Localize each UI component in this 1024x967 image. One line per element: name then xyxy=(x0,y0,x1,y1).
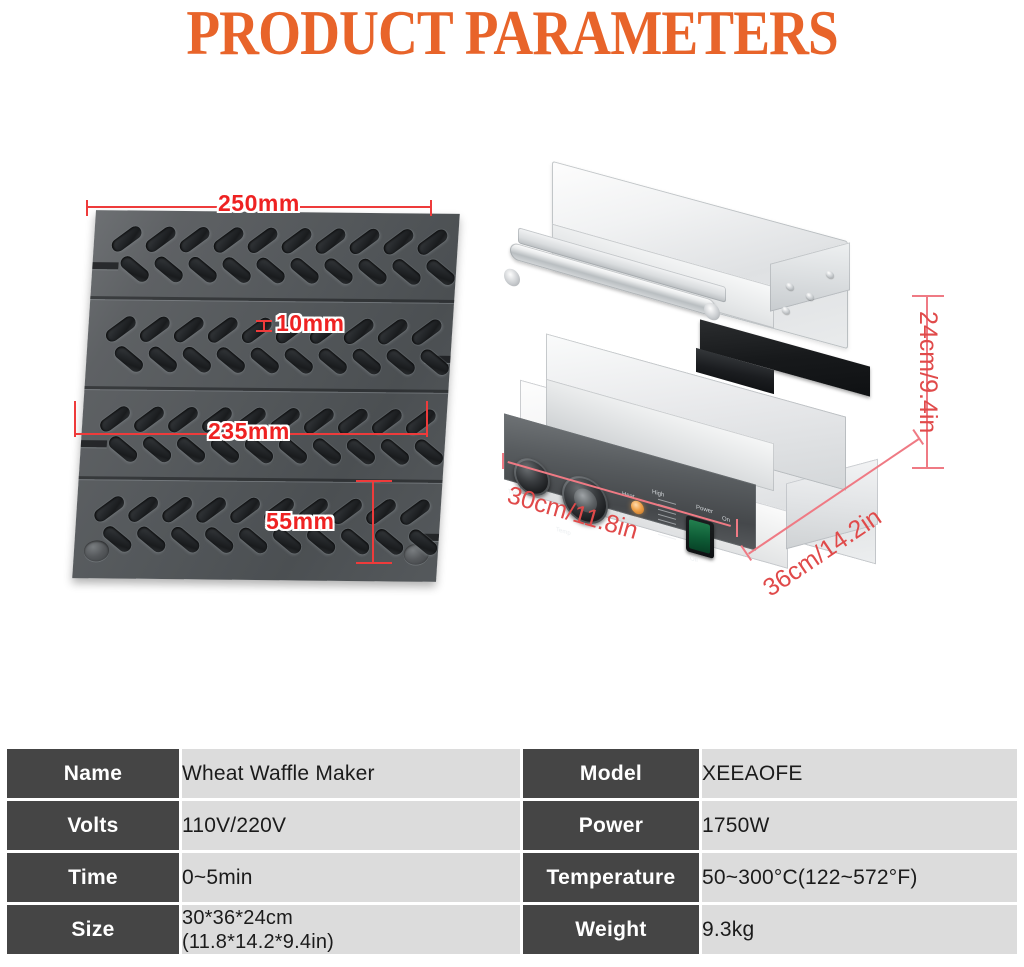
wheat-grain-cavity xyxy=(254,255,287,286)
wheat-grain-cavity xyxy=(186,254,219,285)
wheat-grain-cavity xyxy=(248,345,281,376)
dim-tick xyxy=(502,453,504,469)
spec-value: XEEAOFE xyxy=(702,749,1017,798)
dim-tick xyxy=(736,519,738,537)
page-title-bar: PRODUCT PARAMETERS xyxy=(0,0,1024,66)
wheat-grain-cavity xyxy=(288,255,321,286)
wheat-grain-cavity xyxy=(109,224,144,254)
table-row: NameWheat Waffle MakerModelXEEAOFE xyxy=(7,749,1017,798)
wheat-grain-cavity xyxy=(310,436,343,467)
wheat-grain-cavity xyxy=(347,226,382,256)
wheat-grain-cavity xyxy=(146,344,179,375)
wheat-grain-cavity xyxy=(302,406,337,436)
spec-label: Temperature xyxy=(523,853,699,902)
panel-label-off: Off xyxy=(690,556,698,564)
dim-tick xyxy=(430,200,432,216)
plate-seam xyxy=(86,296,460,303)
wheat-grain-cavity xyxy=(140,434,173,465)
wheat-grain-cavity xyxy=(282,345,315,376)
wheat-grain-cavity xyxy=(390,257,423,288)
dim-label-machine-height: 24cm/9.4in xyxy=(913,311,942,433)
power-switch[interactable] xyxy=(689,519,710,554)
wheat-grain-cavity xyxy=(98,404,133,434)
spec-label: Power xyxy=(523,801,699,850)
spec-label: Volts xyxy=(7,801,179,850)
wheat-grain-cavity xyxy=(143,224,178,254)
spec-value: 0~5min xyxy=(182,853,520,902)
wheat-grain-cavity xyxy=(409,317,444,347)
wheat-grain-cavity xyxy=(166,404,201,434)
wheat-grain-cavity xyxy=(106,434,139,465)
wheat-grain-cavity xyxy=(236,525,269,556)
table-row: Size30*36*24cm(11.8*14.2*9.4in)Weight9.3… xyxy=(7,905,1017,954)
wheat-grain-cavity xyxy=(160,494,195,524)
dim-tick xyxy=(86,200,88,216)
wheat-grain-cavity xyxy=(177,224,212,254)
wheat-grain-cavity xyxy=(220,255,253,286)
wheat-grain-cavity xyxy=(132,404,167,434)
spec-label: Size xyxy=(7,905,179,954)
wheat-grain-cavity xyxy=(92,494,127,524)
dim-tick xyxy=(356,562,392,564)
wheat-grain-cavity xyxy=(398,497,433,527)
wheat-grain-cavity xyxy=(412,437,445,468)
spec-label: Time xyxy=(7,853,179,902)
wheat-grain-cavity xyxy=(228,495,263,525)
wheat-grain-cavity xyxy=(322,256,355,287)
specification-table: NameWheat Waffle MakerModelXEEAOFEVolts1… xyxy=(4,746,1020,957)
wheat-grain-cavity xyxy=(135,524,168,555)
dim-tick xyxy=(74,401,76,437)
wheat-grain-cavity xyxy=(381,227,416,257)
wheat-grain-cavity xyxy=(375,317,410,347)
plate-notch xyxy=(92,262,118,269)
wheat-grain-cavity xyxy=(424,257,457,288)
plate-seam xyxy=(75,476,455,483)
page-title: PRODUCT PARAMETERS xyxy=(186,1,838,65)
machine-handle-cap xyxy=(504,267,520,289)
wheat-grain-cavity xyxy=(313,226,348,256)
wheat-grain-cavity xyxy=(203,525,236,556)
wheat-grain-cavity xyxy=(152,254,185,285)
waffle-maker-figure: Timer Temp Heat Low High Power On Off 30… xyxy=(490,161,960,631)
wheat-grain-cavity xyxy=(245,225,280,255)
wheat-grain-cavity xyxy=(169,524,202,555)
wheat-grain-cavity xyxy=(316,346,349,377)
spec-value: 30*36*24cm(11.8*14.2*9.4in) xyxy=(182,905,520,954)
wheat-grain-cavity xyxy=(384,347,417,378)
table-row: Time0~5minTemperature50~300°C(122~572°F) xyxy=(7,853,1017,902)
dim-line-grain-thickness xyxy=(263,320,265,331)
wheat-grain-cavity xyxy=(180,344,213,375)
wheat-grain-cavity xyxy=(211,225,246,255)
dim-label-plate-inner-width: 235mm xyxy=(208,418,290,445)
dim-tick xyxy=(912,295,944,297)
wheat-grain-cavity xyxy=(214,345,247,376)
dim-label-grain-thickness: 10mm xyxy=(276,310,344,337)
wheat-grain-cavity xyxy=(356,256,389,287)
dim-label-band-height: 55mm xyxy=(266,508,334,535)
product-photo-area: 250mm 10mm 235mm 55mm xyxy=(0,66,1024,736)
spec-value: 50~300°C(122~572°F) xyxy=(702,853,1017,902)
wheat-grain-cavity xyxy=(118,254,151,285)
wheat-grain-cavity xyxy=(174,434,207,465)
wheat-grain-cavity xyxy=(344,436,377,467)
plate-seam xyxy=(80,386,459,393)
product-parameters-page: PRODUCT PARAMETERS 250mm xyxy=(0,0,1024,967)
spec-label: Name xyxy=(7,749,179,798)
spec-label: Weight xyxy=(523,905,699,954)
dim-line-band-height xyxy=(372,480,374,564)
wheat-grain-cavity xyxy=(171,314,206,344)
spec-label: Model xyxy=(523,749,699,798)
wheat-grain-cavity xyxy=(205,315,240,345)
wheat-grain-cavity xyxy=(104,314,139,344)
wheat-grain-cavity xyxy=(137,314,172,344)
waffle-plate-figure: 250mm 10mm 235mm 55mm xyxy=(70,196,470,586)
spec-value: 1750W xyxy=(702,801,1017,850)
wheat-grain-cavity xyxy=(350,346,383,377)
wheat-grain-cavity xyxy=(279,226,314,256)
wheat-grain-cavity xyxy=(341,316,376,346)
wheat-grain-cavity xyxy=(194,495,229,525)
wheat-grain-cavity xyxy=(112,344,145,375)
dim-tick xyxy=(356,480,392,482)
spec-value: Wheat Waffle Maker xyxy=(182,749,520,798)
dim-label-plate-width: 250mm xyxy=(218,190,300,217)
wheat-grain-cavity xyxy=(338,526,371,557)
wheat-grain-cavity xyxy=(330,496,365,526)
wheat-grain-cavity xyxy=(415,227,450,257)
plate-notch xyxy=(81,440,107,447)
wheat-grain-cavity xyxy=(372,527,405,558)
wheat-grain-cavity xyxy=(364,497,399,527)
spec-value: 110V/220V xyxy=(182,801,520,850)
wheat-grain-cavity xyxy=(378,437,411,468)
dim-tick xyxy=(912,467,944,469)
wheat-grain-cavity xyxy=(126,494,161,524)
dim-tick xyxy=(426,401,428,437)
plate-bolt-hole xyxy=(83,540,109,561)
panel-label-temp: Temp xyxy=(556,527,571,537)
spec-value: 9.3kg xyxy=(702,905,1017,954)
table-row: Volts110V/220VPower1750W xyxy=(7,801,1017,850)
